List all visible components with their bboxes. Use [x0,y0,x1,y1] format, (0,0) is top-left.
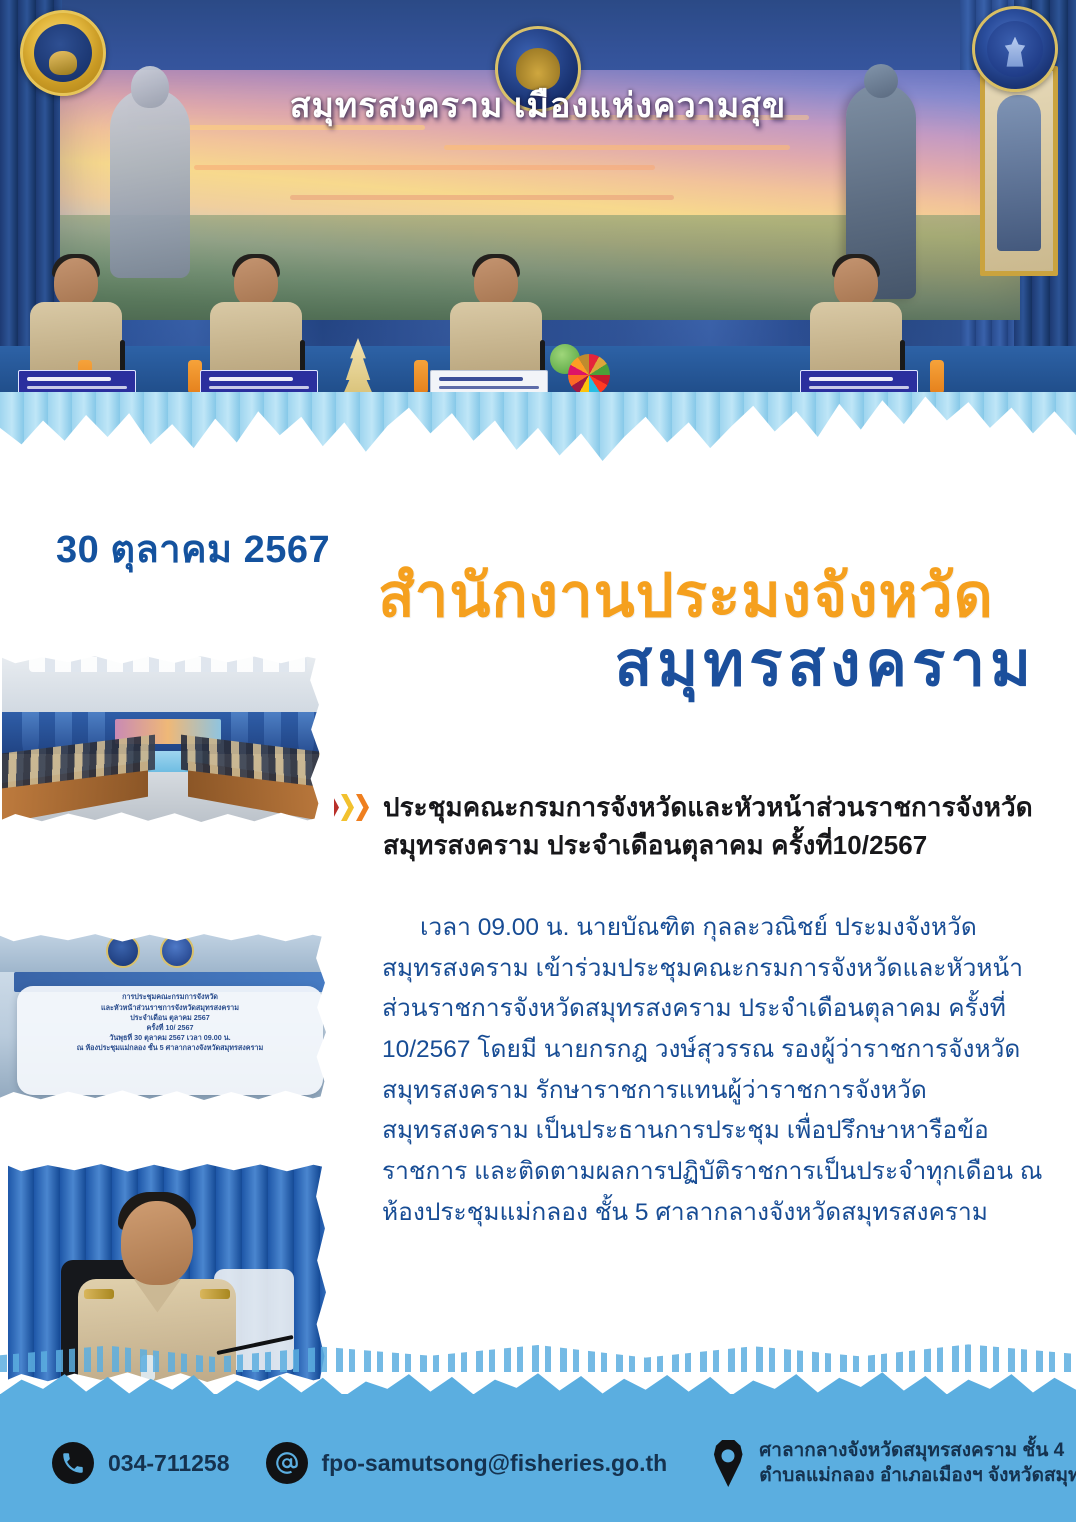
official-uniform [450,302,542,378]
sdg-wheel-icon [568,354,610,396]
address-line-2: ตำบลแม่กลอง อำเภอเมืองฯ จังหวัดสมุทรสงคร… [759,1463,1076,1488]
name-plate-line [27,377,111,381]
phone-number: 034-711258 [108,1450,230,1477]
slide-line: ณ ห้องประชุมแม่กลอง ชั้น 5 ศาลากลางจังหว… [23,1043,317,1053]
footer-content: 034-711258 fpo-samutsong@fisheries.go.th… [0,1420,1076,1506]
name-plate-line [209,386,309,389]
address-block: ศาลากลางจังหวัดสมุทรสงคราม ชั้น 4 ตำบลแม… [759,1438,1076,1489]
subtitle-line-1: ประชุมคณะกรมการจังหวัดและหัวหน้าส่วนราชก… [383,788,1033,826]
footer-phone[interactable]: 034-711258 [52,1442,230,1484]
sky-streak [444,145,790,150]
official-uniform [210,302,302,378]
publication-date: 30 ตุลาคม 2567 [56,518,330,579]
seated-official [448,258,544,378]
microphone-icon [540,340,545,374]
footer-address[interactable]: ศาลากลางจังหวัดสมุทรสงคราม ชั้น 4 ตำบลแม… [711,1438,1076,1489]
email-address: fpo-samutsong@fisheries.go.th [322,1450,668,1477]
official-uniform [810,302,902,378]
header-photo: สมุทรสงคราม เมืองแห่งความสุข [0,0,1076,470]
at-sign-icon [266,1442,308,1484]
official-uniform [30,302,122,378]
microphone-icon [300,340,305,374]
ceiling-lights [29,657,308,672]
province-seal-logo [20,10,106,96]
name-plate-line [439,377,523,381]
page-title: สำนักงานประมงจังหวัด สมุทรสงคราม [330,566,1062,699]
room-ceiling [2,652,334,719]
chevron-right-icon [341,794,354,821]
fisheries-seal-inner [987,21,1043,77]
microphone-icon [900,340,905,374]
footer-email[interactable]: fpo-samutsong@fisheries.go.th [266,1442,668,1484]
photo-projection-screen: การประชุมคณะกรมการจังหวัด และหัวหน้าส่วน… [0,930,340,1106]
seated-official [808,258,904,378]
seated-official [208,258,304,378]
slide-line: วันพุธที่ 30 ตุลาคม 2567 เวลา 09.00 น. [23,1033,317,1043]
province-emblem-icon [160,934,194,968]
location-pin-icon [711,1439,745,1487]
fisheries-emblem-icon [106,934,140,968]
address-line-1: ศาลากลางจังหวัดสมุทรสงคราม ชั้น 4 [759,1438,1076,1463]
drink-bottle [930,360,944,394]
subtitle-row: ประชุมคณะกรมการจังหวัดและหัวหน้าส่วนราชก… [326,788,1066,865]
name-plate-line [209,377,293,381]
fisheries-department-logo [972,6,1058,92]
subtitle-line-2: สมุทรสงคราม ประจำเดือนตุลาคม ครั้งที่10/… [383,826,1033,864]
seated-official [28,258,124,378]
poster-root: สมุทรสงคราม เมืองแห่งความสุข [0,0,1076,1522]
province-seal-inner [34,24,92,82]
photo-conference-room [2,652,334,828]
sky-streak [290,195,674,200]
name-plate-line [809,386,909,389]
slide-line: ครั้งที่ 10/ 2567 [23,1023,317,1033]
slide-content-card: การประชุมคณะกรมการจังหวัด และหัวหน้าส่วน… [17,986,323,1095]
slide-line: และหัวหน้าส่วนราชการจังหวัดสมุทรสงคราม [23,1003,317,1013]
body-paragraph: เวลา 09.00 น. นายบัณฑิต กุลละวณิชย์ ประม… [382,908,1058,1233]
official-head [234,258,278,308]
drink-bottle [414,360,428,394]
uniform-epaulette [200,1289,230,1299]
microphone-icon [120,340,125,374]
official-head [474,258,518,308]
official-head [834,258,878,308]
chevron-right-icon [356,794,369,821]
name-plate-line [439,386,539,389]
subtitle-text: ประชุมคณะกรมการจังหวัดและหัวหน้าส่วนราชก… [383,788,1033,865]
sky-streak [194,165,655,170]
name-plate-line [809,377,893,381]
slide-line: การประชุมคณะกรมการจังหวัด [23,992,317,1002]
slide-line: ประจำเดือน ตุลาคม 2567 [23,1013,317,1023]
name-plate-line [27,386,127,389]
backdrop-slogan-text: สมุทรสงคราม เมืองแห่งความสุข [0,78,1076,132]
title-line-2: สมุทรสงคราม [330,632,1062,699]
title-line-1: สำนักงานประมงจังหวัด [330,566,1062,626]
official-head [54,258,98,308]
phone-icon [52,1442,94,1484]
footer-contact-bar: 034-711258 fpo-samutsong@fisheries.go.th… [0,1394,1076,1522]
uniform-epaulette [84,1289,114,1299]
officer-head [121,1201,193,1285]
